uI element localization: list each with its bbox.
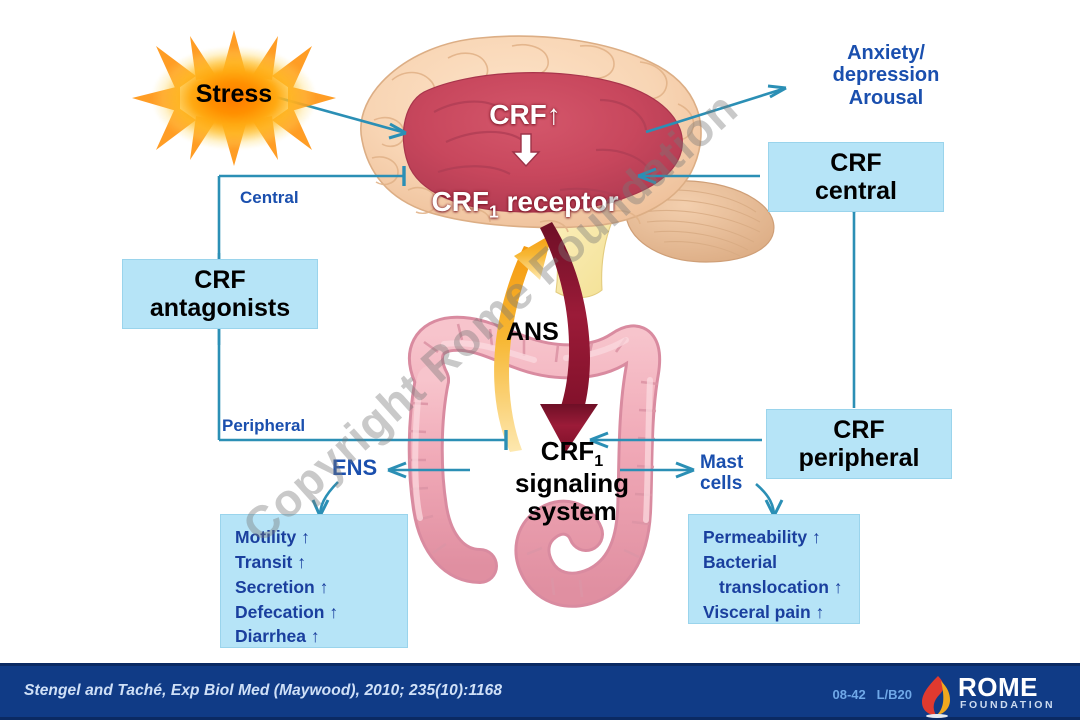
stress-burst: Stress: [128, 28, 340, 168]
foundation-wordmark: FOUNDATION: [960, 700, 1055, 711]
peripheral-label: Peripheral: [222, 416, 305, 435]
rome-wordmark: ROME: [958, 674, 1038, 700]
footer-bar: Stengel and Taché, Exp Biol Med (Maywood…: [0, 663, 1080, 720]
rome-flame-icon: [918, 674, 956, 718]
crf-up-label: CRF↑: [430, 100, 620, 131]
crf-peripheral-box[interactable]: CRF peripheral: [766, 409, 952, 479]
anxiety-depression-arousal-label: Anxiety/ depression Arousal: [796, 42, 976, 109]
rome-foundation-logo: ROME FOUNDATION: [918, 672, 1066, 718]
list-item: Transit ↑: [235, 550, 395, 575]
crf-antagonists-box[interactable]: CRF antagonists: [122, 259, 318, 329]
crf1-signaling-system-label: CRF1signalingsystem: [492, 438, 652, 525]
ans-label: ANS: [506, 318, 559, 346]
mast-cells-label: Mast cells: [700, 452, 743, 495]
list-item: Visceral pain ↑: [703, 600, 847, 625]
list-item: Diarrhea ↑: [235, 624, 395, 649]
crf-central-label: CRF central: [815, 149, 897, 205]
crf-central-box[interactable]: CRF central: [768, 142, 944, 212]
list-item: Bacterial: [703, 550, 847, 575]
stress-label: Stress: [128, 80, 340, 109]
list-item: Permeability ↑: [703, 525, 847, 550]
mast-effects-box: Permeability ↑ Bacterial translocation ↑…: [688, 514, 860, 624]
crf1-receptor-text: CRF1 receptor: [431, 186, 618, 217]
list-item: Secretion ↑: [235, 575, 395, 600]
list-item: Defecation ↑: [235, 600, 395, 625]
list-item: translocation ↑: [703, 575, 847, 600]
crf1-receptor-label: CRF1 receptor: [398, 156, 652, 221]
crf-peripheral-label: CRF peripheral: [799, 416, 920, 472]
crf-antagonists-label: CRF antagonists: [150, 266, 290, 322]
list-item: Motility ↑: [235, 525, 395, 550]
citation-text: Stengel and Taché, Exp Biol Med (Maywood…: [24, 682, 502, 700]
ens-label: ENS: [332, 456, 377, 481]
slide-number-text: 08-42 L/B20: [833, 687, 913, 702]
ens-effects-box: Motility ↑ Transit ↑ Secretion ↑ Defecat…: [220, 514, 408, 648]
slide-canvas: Stress CRF↑ CRF1 receptor Anxiety/ depre…: [0, 0, 1080, 720]
central-label: Central: [240, 188, 299, 207]
